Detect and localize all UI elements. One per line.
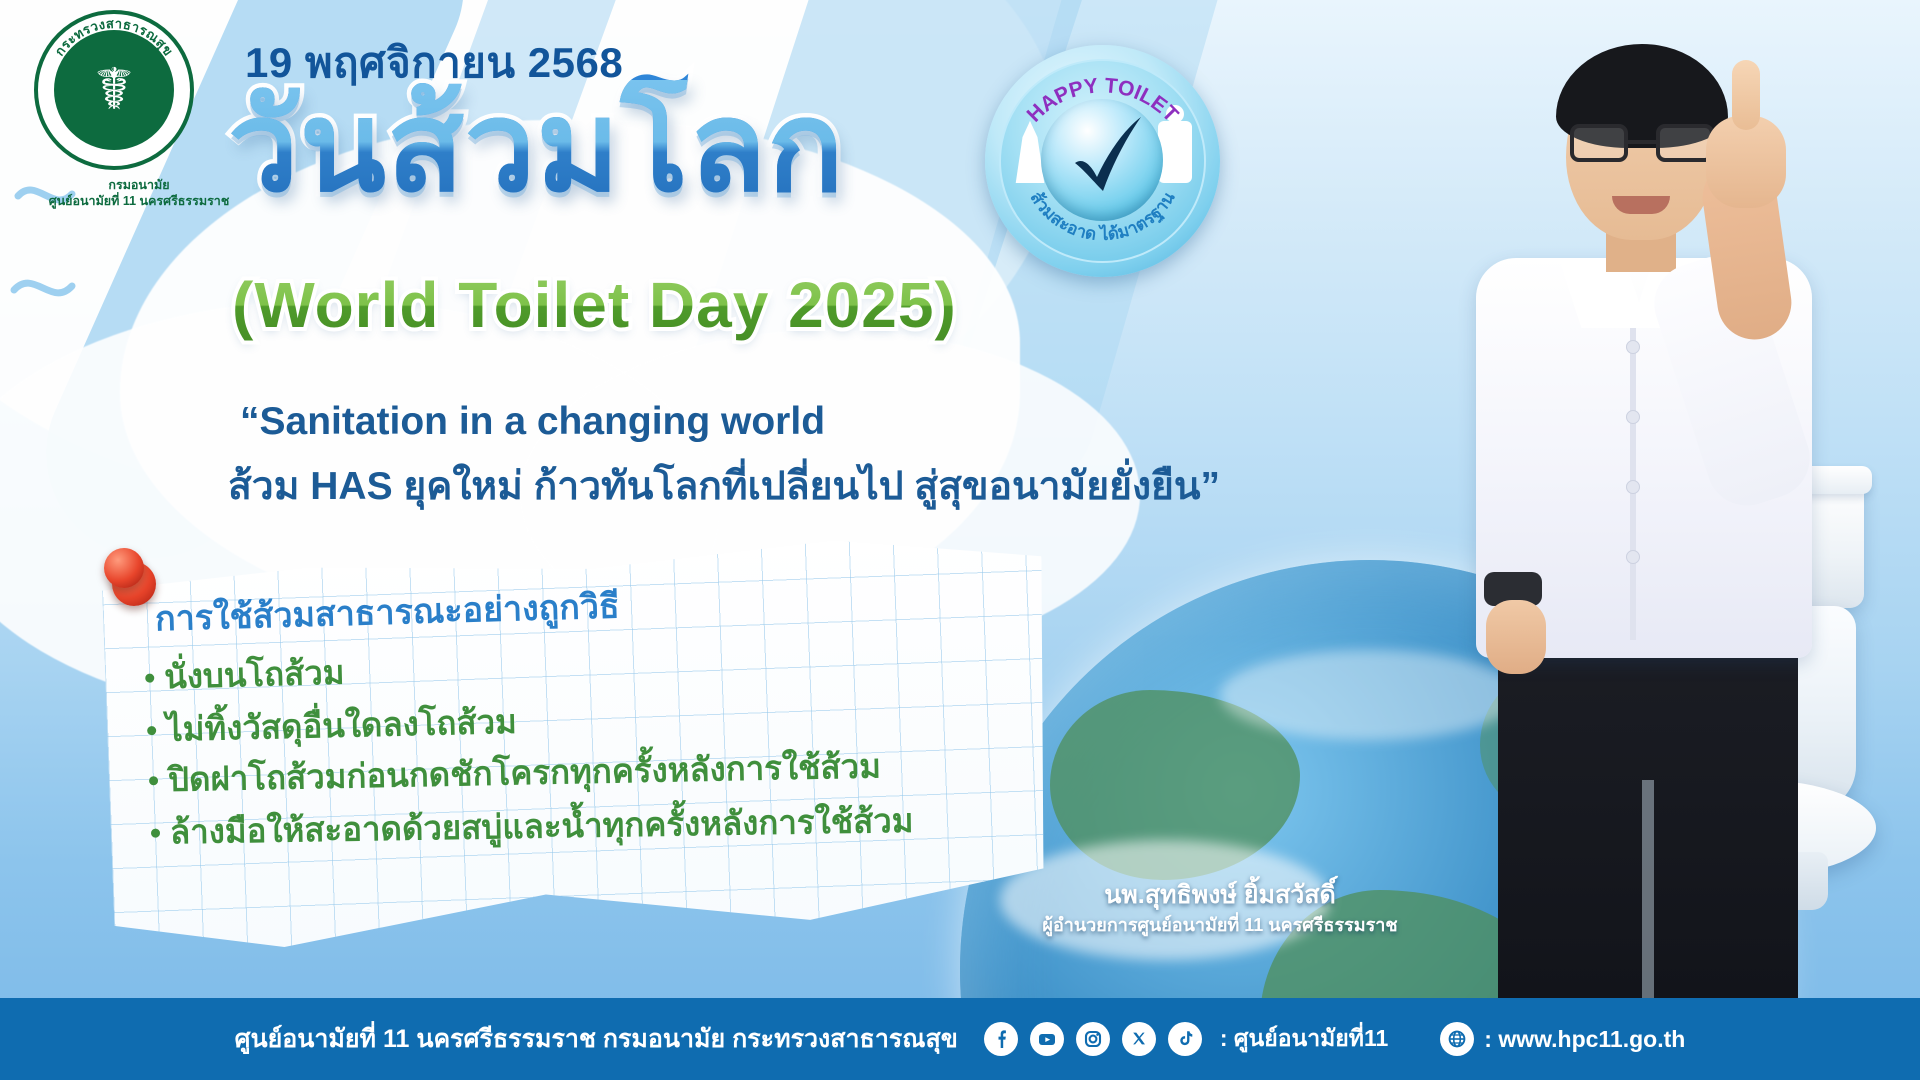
- globe-icon: [1440, 1022, 1474, 1056]
- slogan-line-1: “Sanitation in a changing world: [240, 400, 825, 444]
- note-list-item: ล้างมือให้สะอาดด้วยสบู่และน้ำทุกครั้งหลั…: [151, 794, 914, 859]
- happy-toilet-badge: HAPPY TOILET ส้วมสะอาด ได้มาตรฐาน: [985, 45, 1220, 277]
- note-title: การใช้ส้วมสาธารณะอย่างถูกวิธี: [154, 578, 620, 645]
- note-content: การใช้ส้วมสาธารณะอย่างถูกวิธี นั่งบนโถส้…: [101, 533, 1055, 957]
- facebook-icon[interactable]: [984, 1022, 1018, 1056]
- svg-text:HAPPY TOILET: HAPPY TOILET: [1023, 74, 1183, 127]
- title-thai: วันส้วมโลก: [228, 80, 845, 214]
- caduceus-icon: ☤: [95, 61, 134, 119]
- note-list-item-text: ล้างมือให้สะอาดด้วยสบู่และน้ำทุกครั้งหลั…: [170, 802, 914, 851]
- director-name-block: นพ.สุทธิพงษ์ ยิ้มสวัสดิ์ ผู้อำนวยการศูนย…: [1010, 880, 1430, 937]
- youtube-icon[interactable]: [1030, 1022, 1064, 1056]
- push-pin-icon: [104, 548, 162, 620]
- note-list-item: นั่งบนโถส้วม: [145, 646, 346, 704]
- title-english: (World Toilet Day 2025): [232, 268, 957, 342]
- x-twitter-icon[interactable]: [1122, 1022, 1156, 1056]
- ministry-of-public-health-logo: กระทรวงสาธารณสุข MINISTRY OF PUBLIC HEAL…: [34, 10, 194, 170]
- director-title: ผู้อำนวยการศูนย์อนามัยที่ 11 นครศรีธรรมร…: [1010, 914, 1430, 937]
- poster-canvas: กระทรวงสาธารณสุข MINISTRY OF PUBLIC HEAL…: [0, 0, 1920, 1080]
- tiktok-icon[interactable]: [1168, 1022, 1202, 1056]
- badge-ring-text: HAPPY TOILET ส้วมสะอาด ได้มาตรฐาน: [985, 45, 1220, 277]
- website-group[interactable]: : www.hpc11.go.th: [1440, 1022, 1685, 1056]
- note-list-item-text: ไม่ทิ้งวัสดุอื่นใดลงโถส้วม: [166, 703, 517, 748]
- director-photo: [1380, 20, 1900, 1020]
- social-handle-label: : ศูนย์อนามัยที่11: [1220, 1021, 1388, 1057]
- director-name: นพ.สุทธิพงษ์ ยิ้มสวัสดิ์: [1010, 880, 1430, 910]
- footer-organization: ศูนย์อนามัยที่ 11 นครศรีธรรมราช กรมอนามั…: [235, 1019, 958, 1059]
- footer-bar: ศูนย์อนามัยที่ 11 นครศรีธรรมราช กรมอนามั…: [0, 998, 1920, 1080]
- website-label: : www.hpc11.go.th: [1484, 1026, 1685, 1053]
- note-list-item-text: นั่งบนโถส้วม: [164, 654, 345, 696]
- slogan-line-2: ส้วม HAS ยุคใหม่ ก้าวทันโลกที่เปลี่ยนไป …: [228, 455, 1220, 517]
- emblem-caption-line1: กรมอนามัย: [14, 178, 264, 194]
- emblem-caption-line2: ศูนย์อนามัยที่ 11 นครศรีธรรมราช: [14, 194, 264, 210]
- social-icons-group: : ศูนย์อนามัยที่11: [984, 1021, 1388, 1057]
- svg-text:ส้วมสะอาด ได้มาตรฐาน: ส้วมสะอาด ได้มาตรฐาน: [1026, 188, 1178, 244]
- eyeglasses-icon: [1570, 124, 1714, 164]
- note-list-item-text: ปิดฝาโถส้วมก่อนกดชักโครกทุกครั้งหลังการใ…: [168, 747, 882, 798]
- emblem-caption: กรมอนามัย ศูนย์อนามัยที่ 11 นครศรีธรรมรา…: [14, 178, 264, 209]
- instagram-icon[interactable]: [1076, 1022, 1110, 1056]
